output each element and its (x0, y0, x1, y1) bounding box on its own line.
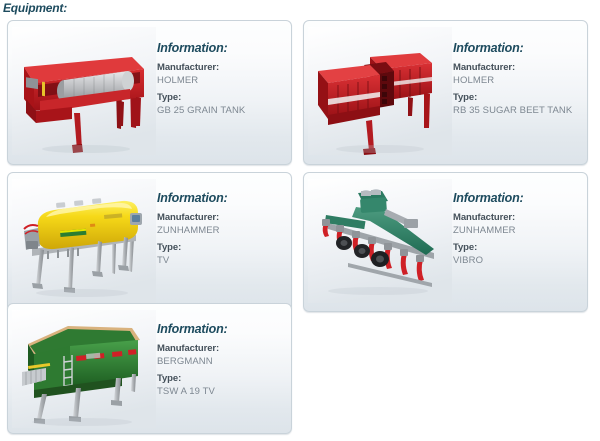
manufacturer-label: Manufacturer: (157, 343, 285, 355)
equipment-card[interactable]: Information: Manufacturer: BERGMANN Type… (7, 303, 292, 434)
type-label: Type: (157, 242, 285, 254)
equipment-photo (12, 27, 156, 155)
manufacturer-field: Manufacturer: ZUNHAMMER (453, 212, 581, 237)
equipment-photo (308, 27, 452, 155)
type-value: VIBRO (453, 254, 581, 267)
manufacturer-label: Manufacturer: (157, 212, 285, 224)
type-label: Type: (157, 373, 285, 385)
information-heading: Information: (157, 191, 285, 206)
type-value: TSW A 19 TV (157, 385, 285, 398)
equipment-info: Information: Manufacturer: HOLMER Type: … (157, 41, 285, 122)
information-heading: Information: (157, 322, 285, 337)
equipment-card[interactable]: Information: Manufacturer: HOLMER Type: … (303, 20, 588, 165)
equipment-photo (12, 310, 156, 428)
page-title: Equipment: (3, 0, 67, 16)
equipment-card[interactable]: Information: Manufacturer: ZUNHAMMER Typ… (303, 172, 588, 312)
equipment-info: Information: Manufacturer: ZUNHAMMER Typ… (453, 191, 581, 272)
type-value: RB 35 SUGAR BEET TANK (453, 104, 581, 117)
manufacturer-value: ZUNHAMMER (453, 224, 581, 237)
manufacturer-label: Manufacturer: (453, 62, 581, 74)
equipment-info: Information: Manufacturer: ZUNHAMMER Typ… (157, 191, 285, 272)
type-field: Type: GB 25 GRAIN TANK (157, 92, 285, 117)
type-field: Type: TV (157, 242, 285, 267)
type-field: Type: TSW A 19 TV (157, 373, 285, 398)
manufacturer-field: Manufacturer: BERGMANN (157, 343, 285, 368)
equipment-photo (12, 179, 156, 303)
equipment-card[interactable]: Information: Manufacturer: HOLMER Type: … (7, 20, 292, 165)
information-heading: Information: (453, 41, 581, 56)
manufacturer-value: HOLMER (157, 74, 285, 87)
type-value: GB 25 GRAIN TANK (157, 104, 285, 117)
equipment-card-grid: Information: Manufacturer: HOLMER Type: … (0, 17, 600, 441)
manufacturer-value: BERGMANN (157, 355, 285, 368)
type-field: Type: VIBRO (453, 242, 581, 267)
manufacturer-value: HOLMER (453, 74, 581, 87)
type-label: Type: (157, 92, 285, 104)
type-field: Type: RB 35 SUGAR BEET TANK (453, 92, 581, 117)
manufacturer-field: Manufacturer: ZUNHAMMER (157, 212, 285, 237)
type-label: Type: (453, 242, 581, 254)
type-value: TV (157, 254, 285, 267)
equipment-info: Information: Manufacturer: HOLMER Type: … (453, 41, 581, 122)
type-label: Type: (453, 92, 581, 104)
manufacturer-field: Manufacturer: HOLMER (453, 62, 581, 87)
manufacturer-label: Manufacturer: (453, 212, 581, 224)
information-heading: Information: (453, 191, 581, 206)
equipment-photo (308, 179, 452, 303)
equipment-card[interactable]: Information: Manufacturer: ZUNHAMMER Typ… (7, 172, 292, 312)
equipment-info: Information: Manufacturer: BERGMANN Type… (157, 322, 285, 403)
information-heading: Information: (157, 41, 285, 56)
manufacturer-value: ZUNHAMMER (157, 224, 285, 237)
manufacturer-label: Manufacturer: (157, 62, 285, 74)
manufacturer-field: Manufacturer: HOLMER (157, 62, 285, 87)
